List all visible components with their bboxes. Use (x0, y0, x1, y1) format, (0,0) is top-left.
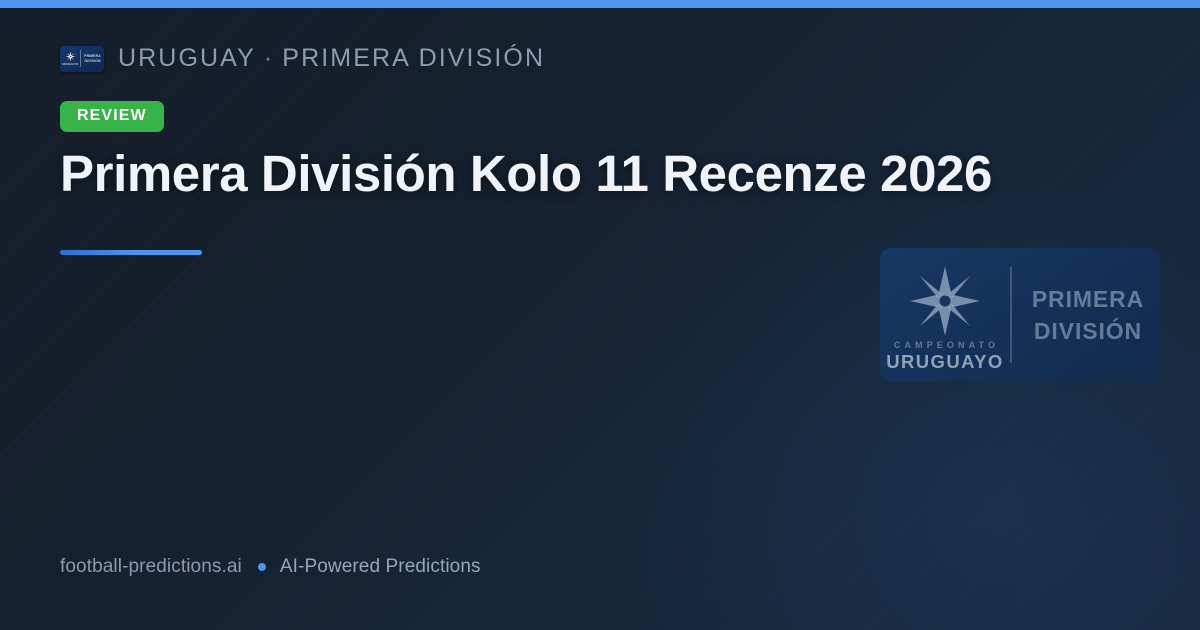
league-badge-campeonato: CAMPEONATO (894, 340, 999, 351)
page-title: Primera División Kolo 11 Recenze 2026 (60, 140, 1080, 208)
footer-tagline: AI-Powered Predictions (280, 556, 481, 578)
league-badge-right: PRIMERA DIVISIÓN (1012, 283, 1160, 347)
title-accent-rule (60, 250, 202, 255)
league-badge-line2: DIVISIÓN (1034, 315, 1142, 347)
header-logo-line2: DIVISIÓN (84, 59, 100, 63)
header-league-logo: URUGUAYO PRIMERA DIVISIÓN (60, 46, 104, 72)
poster-canvas: URUGUAYO PRIMERA DIVISIÓN URUGUAY·PRIMER… (0, 0, 1200, 630)
footer-site-name: football-predictions.ai (60, 556, 242, 578)
header-logo-right: PRIMERA DIVISIÓN (81, 54, 104, 62)
breadcrumb-competition: PRIMERA DIVISIóN (282, 44, 545, 72)
breadcrumb: URUGUAYO PRIMERA DIVISIÓN URUGUAY·PRIMER… (60, 44, 545, 73)
league-badge-left: CAMPEONATO URUGUAYO (880, 248, 1010, 382)
footer: football-predictions.ai AI-Powered Predi… (60, 556, 481, 578)
star-burst-icon (65, 51, 76, 62)
header-logo-campeonato: URUGUAYO (62, 63, 79, 66)
breadcrumb-separator: · (256, 44, 282, 72)
header-logo-left: URUGUAYO (60, 46, 80, 72)
league-badge-line1: PRIMERA (1032, 283, 1144, 315)
star-burst-icon (908, 264, 982, 338)
top-accent-bar (0, 0, 1200, 8)
league-badge: CAMPEONATO URUGUAYO PRIMERA DIVISIÓN (880, 248, 1160, 382)
bullet-dot-icon (258, 563, 266, 571)
poster-content: URUGUAYO PRIMERA DIVISIÓN URUGUAY·PRIMER… (0, 0, 1200, 630)
status-badge: REVIEW (60, 101, 164, 132)
league-badge-uruguayo: URUGUAYO (886, 351, 1003, 372)
breadcrumb-country: URUGUAY (118, 44, 256, 72)
breadcrumb-text: URUGUAY·PRIMERA DIVISIóN (118, 44, 545, 73)
